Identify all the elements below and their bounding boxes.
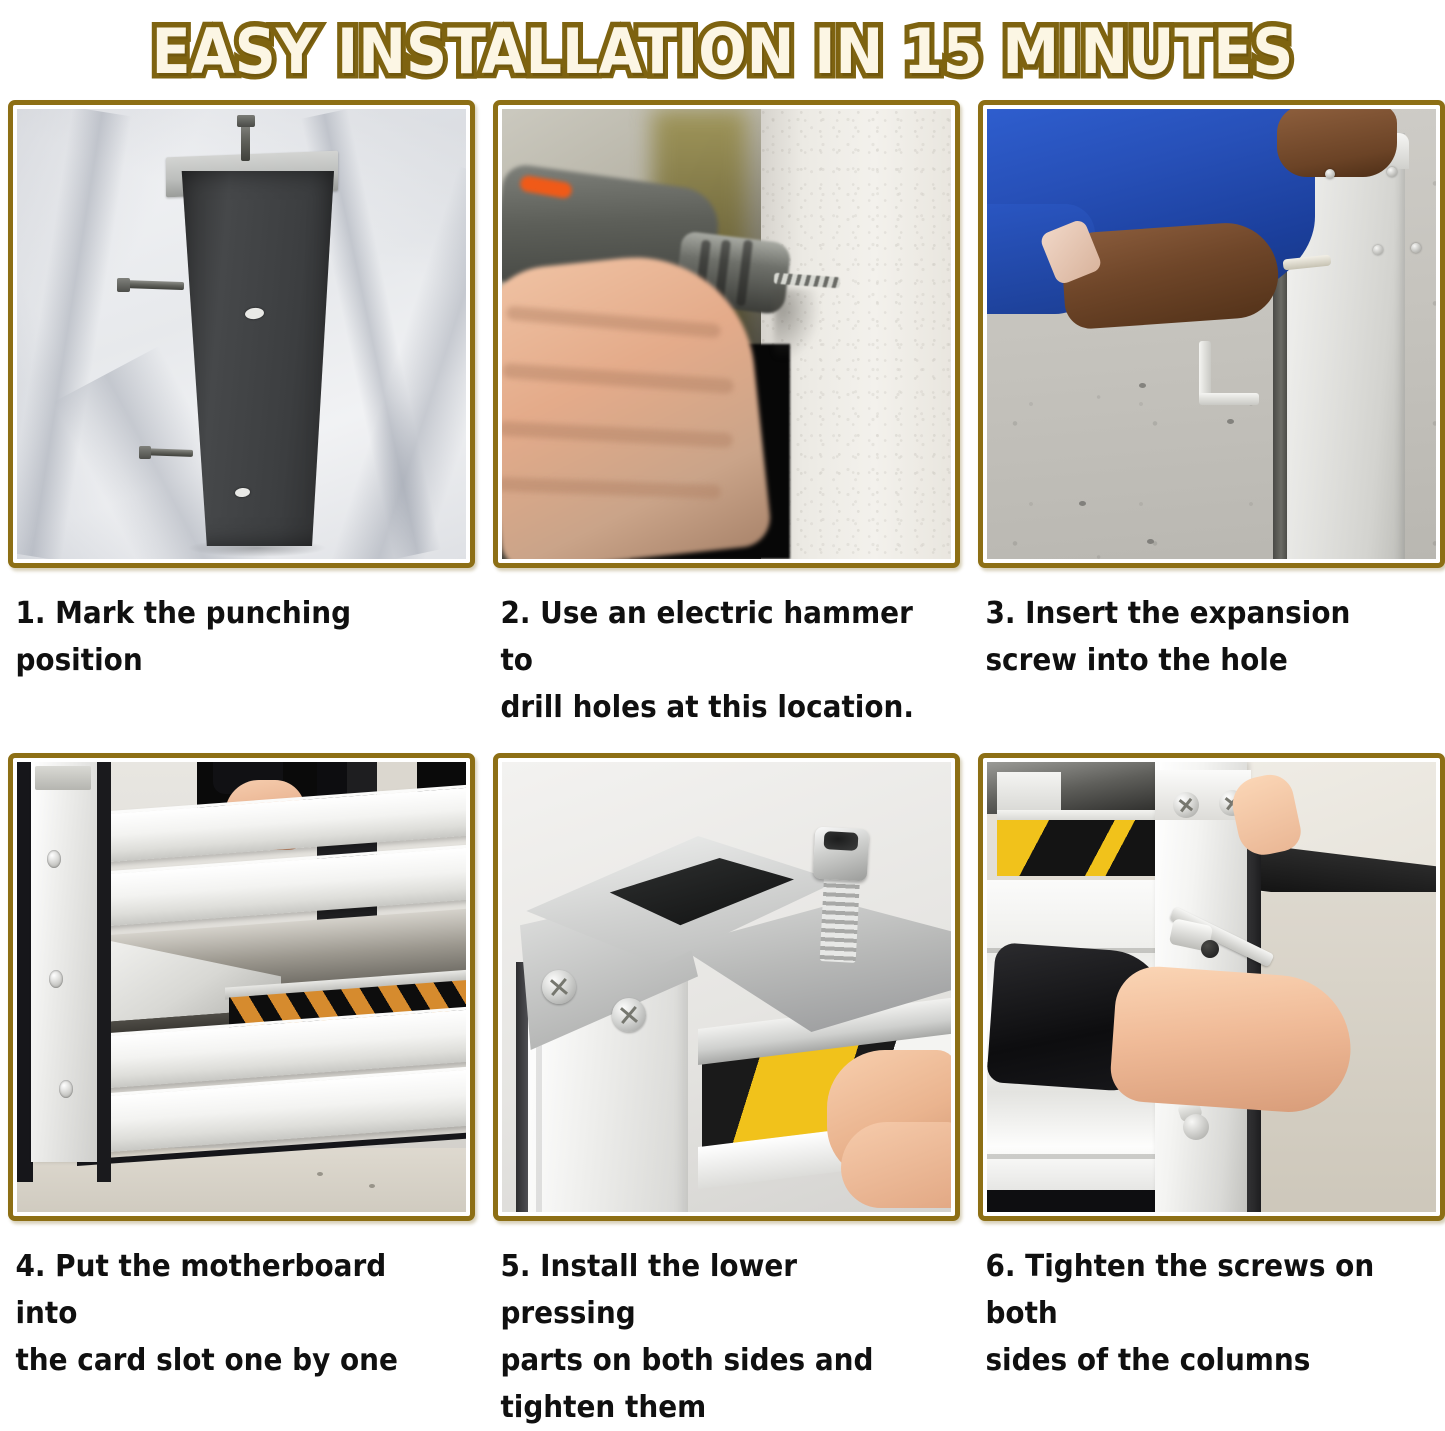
step-card-3: 3. Insert the expansion screw into the h… (978, 100, 1445, 731)
hazard-stripe-tape (997, 820, 1155, 876)
steps-row-top: 1. Mark the punching position (8, 100, 1437, 731)
column-top-bracket (35, 766, 91, 790)
step-caption-6: 6. Tighten the screws on both sides of t… (978, 1221, 1412, 1384)
floor-mark (369, 1184, 375, 1188)
step-photo-6 (987, 762, 1436, 1212)
socket-bolt-thread (820, 869, 861, 963)
step-caption-2: 2. Use an electric hammer to drill holes… (493, 568, 927, 731)
step-photo-frame-5 (493, 753, 960, 1221)
page-title: EASY INSTALLATION IN 15 MINUTES (152, 21, 1294, 83)
step-photo-5 (502, 762, 951, 1212)
post-hole (49, 970, 63, 988)
steps-row-bottom: 4. Put the motherboard into the card slo… (8, 753, 1437, 1431)
floor-mark (317, 1172, 323, 1176)
side-bolt-head (117, 278, 130, 292)
step-photo-frame-6 (978, 753, 1445, 1221)
phillips-screw (612, 998, 646, 1032)
phillips-screw (542, 970, 576, 1004)
step-card-1: 1. Mark the punching position (8, 100, 475, 731)
side-bolt-head (139, 446, 151, 459)
step-photo-3 (987, 109, 1436, 559)
row-spacer (8, 731, 1437, 753)
bolt-being-tightened (1201, 940, 1219, 958)
hex-key-arm (1199, 393, 1259, 405)
steps-grid: 1. Mark the punching position (0, 100, 1445, 1431)
installer-arm (1060, 220, 1281, 331)
phillips-screw (1173, 792, 1199, 818)
floor-mark (1147, 539, 1154, 544)
board-bottom-seal (987, 1190, 1157, 1212)
floor-mark (1139, 383, 1146, 388)
screw-hole (1387, 167, 1397, 177)
step-card-2: 2. Use an electric hammer to drill holes… (493, 100, 960, 731)
column-channel-shadow (97, 762, 111, 1182)
socket-bolt-hex-recess (824, 831, 859, 851)
top-bolt-head (237, 115, 255, 127)
step-card-5: 5. Install the lower pressing parts on b… (493, 753, 960, 1431)
header-banner: EASY INSTALLATION IN 15 MINUTES (0, 0, 1445, 100)
lower-screw-head (1183, 1114, 1209, 1140)
step-photo-frame-1 (8, 100, 475, 568)
installer-finger (841, 1122, 951, 1208)
step-photo-1 (17, 109, 466, 559)
white-column-post (31, 762, 97, 1162)
installer-hand-upper (1277, 109, 1397, 177)
drill-dust (774, 289, 820, 359)
step-caption-3: 3. Insert the expansion screw into the h… (978, 568, 1412, 684)
floor-mark (1227, 419, 1234, 424)
floor-mark (1079, 501, 1086, 506)
step-photo-frame-2 (493, 100, 960, 568)
step-card-4: 4. Put the motherboard into the card slo… (8, 753, 475, 1431)
board-seam (987, 1154, 1157, 1159)
screw-hole (1325, 169, 1335, 179)
screw-hole (1411, 243, 1421, 253)
screw-hole (1373, 245, 1383, 255)
step-photo-frame-4 (8, 753, 475, 1221)
step-caption-1: 1. Mark the punching position (8, 568, 442, 684)
step-photo-frame-3 (978, 100, 1445, 568)
step-photo-2 (502, 109, 951, 559)
step-caption-4: 4. Put the motherboard into the card slo… (8, 1221, 442, 1384)
post-hole (47, 850, 61, 868)
step-photo-4 (17, 762, 466, 1212)
step-card-6: 6. Tighten the screws on both sides of t… (978, 753, 1445, 1431)
post-hole (59, 1080, 73, 1098)
step-caption-5: 5. Install the lower pressing parts on b… (493, 1221, 927, 1431)
